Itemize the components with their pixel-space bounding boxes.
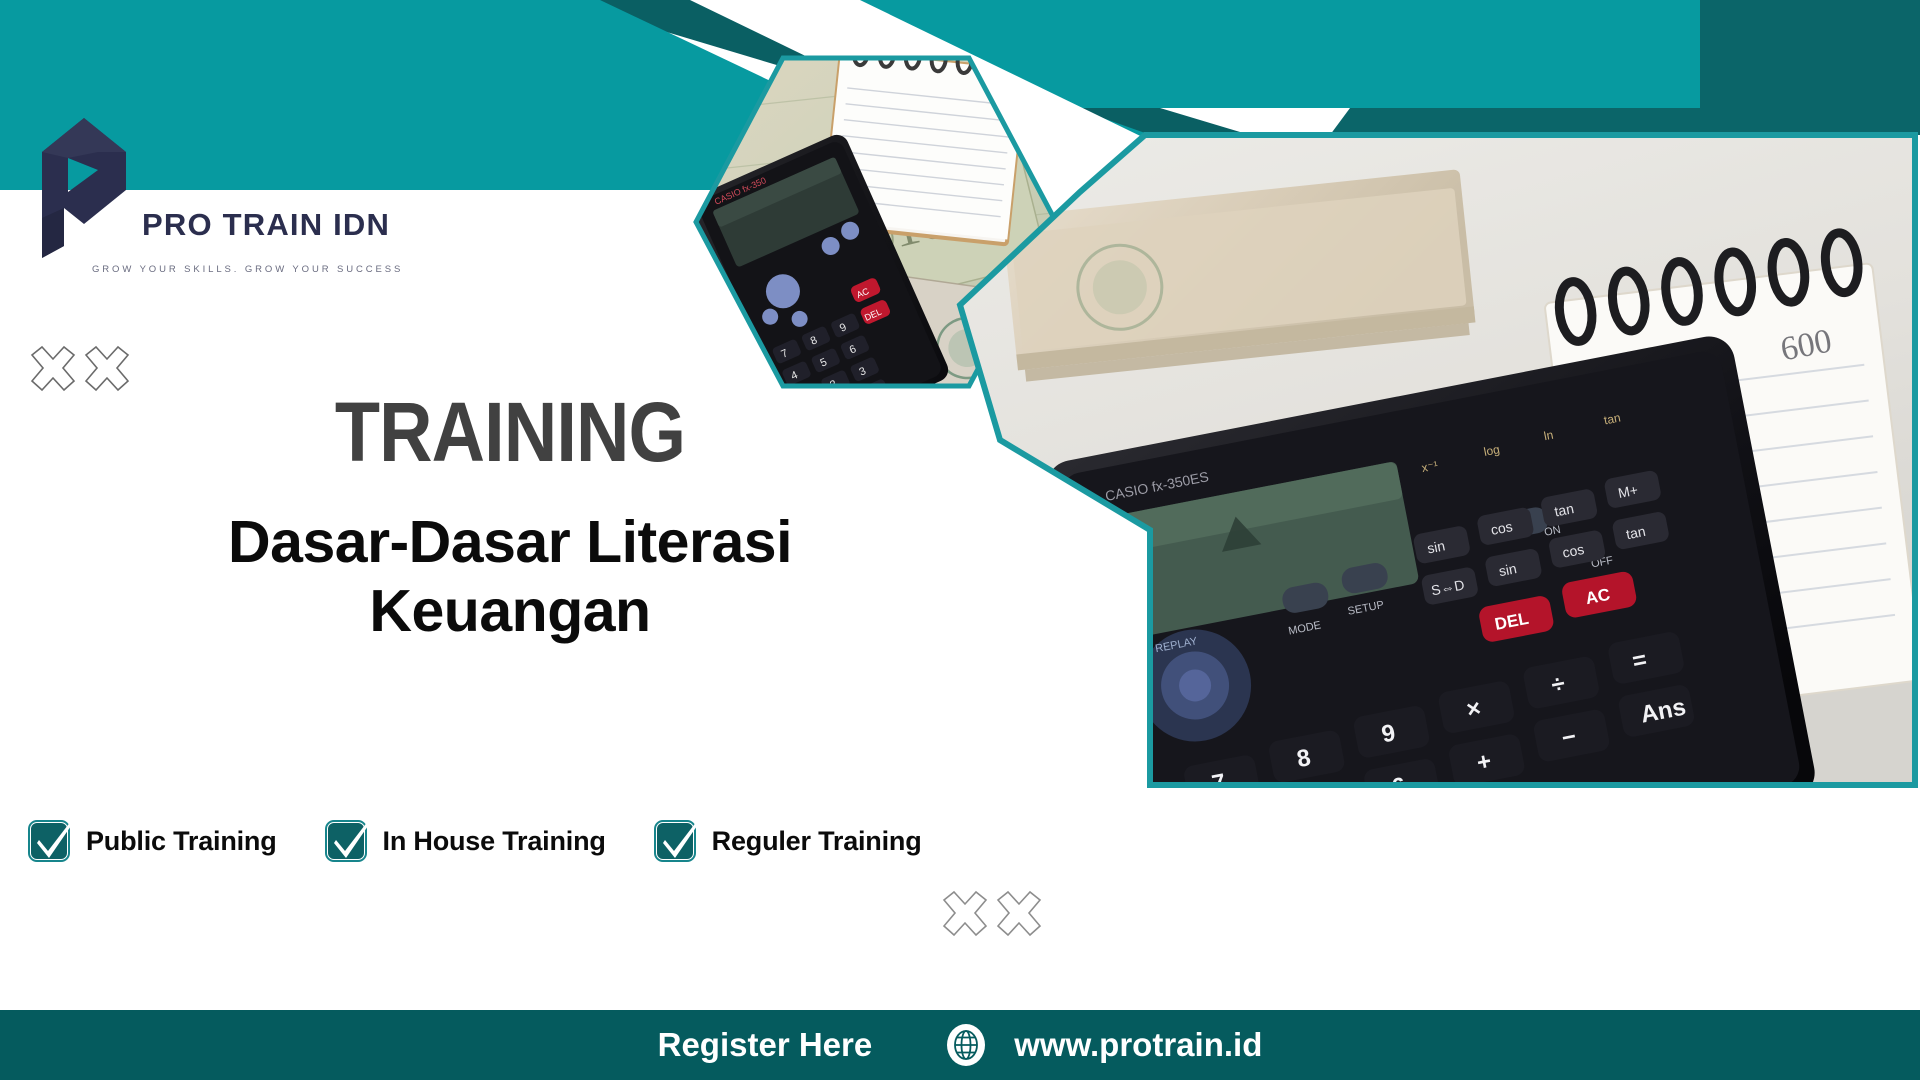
pro-train-arrow-logo-icon — [34, 118, 132, 258]
right-photo-calculator-notebook: Tama Wsr 600 — [955, 130, 1920, 790]
training-option-label: In House Training — [383, 826, 606, 857]
register-cta[interactable]: Register Here — [658, 1026, 873, 1064]
svg-text:sin: sin — [1426, 537, 1447, 556]
page-title: Dasar-Dasar Literasi Keuangan — [150, 508, 870, 646]
check-icon[interactable] — [325, 820, 367, 862]
page-title-line-1: Dasar-Dasar Literasi — [150, 508, 870, 577]
decor-x-marks-left — [28, 345, 133, 408]
globe-icon — [944, 1023, 988, 1067]
poster-canvas: PRO TRAIN IDN GROW YOUR SKILLS. GROW YOU… — [0, 0, 1920, 1080]
footer-bar: Register Here www.protrain.id — [0, 1010, 1920, 1080]
page-title-eyebrow: TRAINING — [193, 390, 827, 474]
svg-text:log: log — [1483, 442, 1501, 459]
svg-text:1: 1 — [799, 391, 809, 392]
brand-name: PRO TRAIN IDN — [142, 209, 390, 258]
brand-logo: PRO TRAIN IDN GROW YOUR SKILLS. GROW YOU… — [34, 118, 364, 275]
svg-text:sin: sin — [1497, 560, 1518, 579]
training-option-reguler[interactable]: Reguler Training — [654, 820, 922, 862]
training-options-list: Public Training In House Training Regule… — [28, 820, 922, 862]
training-option-label: Public Training — [86, 826, 277, 857]
headline-block: TRAINING Dasar-Dasar Literasi Keuangan — [150, 390, 870, 646]
check-icon[interactable] — [28, 820, 70, 862]
brand-tagline: GROW YOUR SKILLS. GROW YOUR SUCCESS — [92, 264, 364, 275]
training-option-label: Reguler Training — [712, 826, 922, 857]
decor-x-marks-right — [940, 890, 1045, 953]
training-option-in-house[interactable]: In House Training — [325, 820, 606, 862]
page-title-line-2: Keuangan — [150, 577, 870, 646]
training-option-public[interactable]: Public Training — [28, 820, 277, 862]
check-icon[interactable] — [654, 820, 696, 862]
website-url[interactable]: www.protrain.id — [1014, 1026, 1262, 1064]
